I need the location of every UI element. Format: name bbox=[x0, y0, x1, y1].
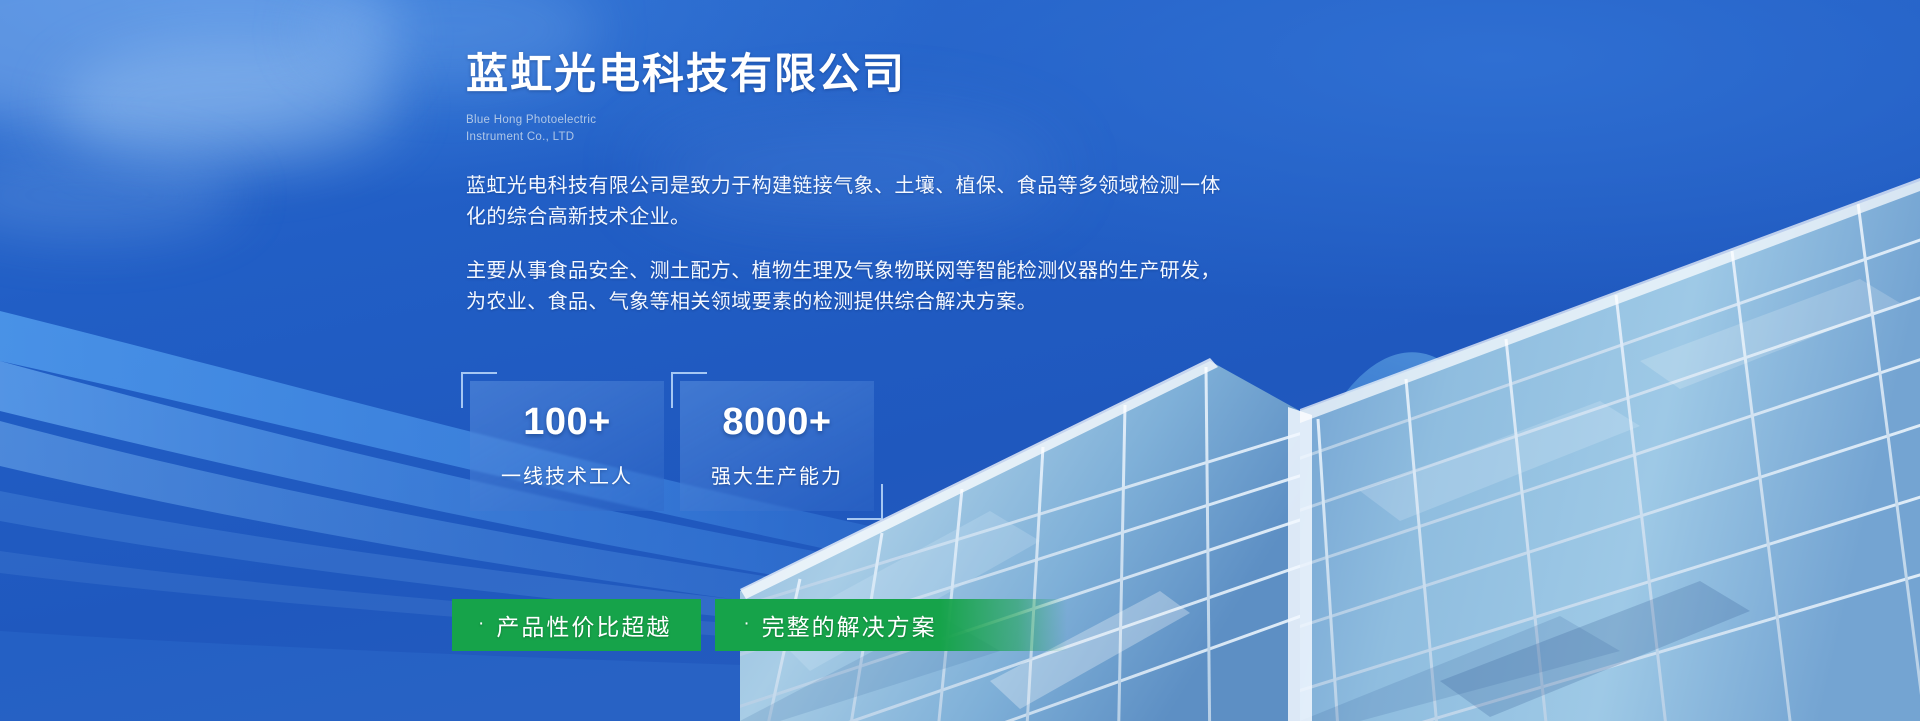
intro-paragraph-1-line2: 化的综合高新技术企业。 bbox=[466, 202, 1451, 232]
feature-tag-solution: · 完整的解决方案 bbox=[715, 599, 1066, 651]
feature-tag-group: · 产品性价比超越 · 完整的解决方案 bbox=[452, 599, 1067, 651]
intro-paragraph-2: 主要从事食品安全、测土配方、植物生理及气象物联网等智能检测仪器的生产研发， 为农… bbox=[466, 256, 1451, 317]
corner-bracket-icon bbox=[461, 372, 497, 408]
intro-paragraph-1: 蓝虹光电科技有限公司是致力于构建链接气象、土壤、植保、食品等多领域检测一体 化的… bbox=[466, 171, 1451, 232]
stat-card-group: 100+ 一线技术工人 8000+ 强大生产能力 bbox=[470, 381, 874, 511]
intro-paragraph-2-line1: 主要从事食品安全、测土配方、植物生理及气象物联网等智能检测仪器的生产研发， bbox=[466, 256, 1451, 286]
feature-tag-label: 产品性价比超越 bbox=[496, 608, 671, 642]
banner-content: 蓝虹光电科技有限公司 Blue Hong Photoelectric Instr… bbox=[466, 0, 1476, 317]
brand-subtitle-line1: Blue Hong Photoelectric bbox=[466, 112, 1476, 129]
stat-card-workers: 100+ 一线技术工人 bbox=[470, 381, 664, 511]
page-title: 蓝虹光电科技有限公司 bbox=[466, 53, 1476, 95]
bullet-dot-icon: · bbox=[743, 614, 751, 633]
hero-banner: 蓝虹光电科技有限公司 Blue Hong Photoelectric Instr… bbox=[0, 0, 1920, 721]
feature-tag-value: · 产品性价比超越 bbox=[452, 599, 701, 651]
brand-subtitle-en: Blue Hong Photoelectric Instrument Co., … bbox=[466, 112, 1476, 145]
brand-subtitle-line2: Instrument Co., LTD bbox=[466, 129, 1476, 146]
stat-label: 强大生产能力 bbox=[711, 460, 843, 489]
intro-paragraph-2-line2: 为农业、食品、气象等相关领域要素的检测提供综合解决方案。 bbox=[466, 287, 1451, 317]
stat-value: 8000+ bbox=[722, 403, 831, 441]
stat-card-capacity: 8000+ 强大生产能力 bbox=[680, 381, 874, 511]
bullet-dot-icon: · bbox=[478, 614, 486, 633]
stat-label: 一线技术工人 bbox=[501, 460, 633, 489]
intro-paragraph-1-line1: 蓝虹光电科技有限公司是致力于构建链接气象、土壤、植保、食品等多领域检测一体 bbox=[466, 171, 1451, 201]
corner-bracket-icon bbox=[671, 372, 707, 408]
corner-bracket-icon bbox=[847, 484, 883, 520]
feature-tag-label: 完整的解决方案 bbox=[762, 608, 937, 642]
stat-value: 100+ bbox=[523, 403, 611, 441]
